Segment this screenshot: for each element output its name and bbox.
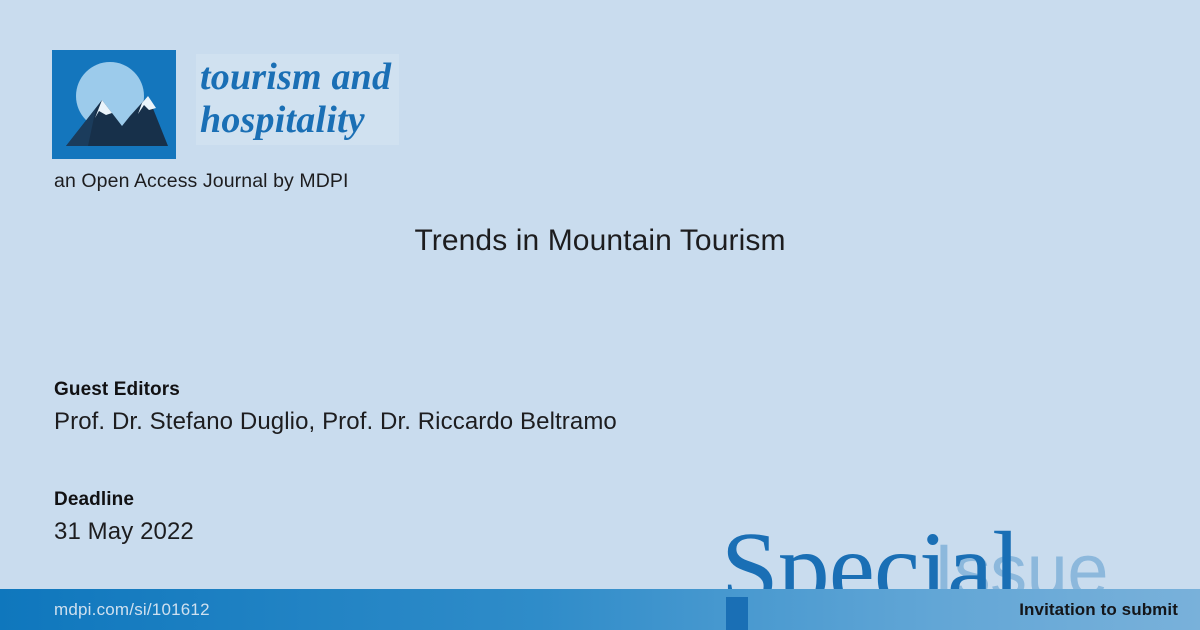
journal-subtitle: an Open Access Journal by MDPI: [54, 170, 349, 193]
masthead: tourism and hospitality: [52, 50, 399, 159]
special-issue-title: Trends in Mountain Tourism: [0, 224, 1200, 258]
footer-cta[interactable]: Invitation to submit: [1019, 600, 1178, 620]
deadline-value: 31 May 2022: [54, 518, 194, 546]
mountain-sun-logo-icon: [52, 50, 176, 159]
footer-bar: mdpi.com/si/101612 Invitation to submit: [0, 589, 1200, 630]
guest-editors-block: Guest Editors Prof. Dr. Stefano Duglio, …: [54, 379, 617, 436]
journal-name: tourism and hospitality: [196, 54, 399, 145]
guest-editors-label: Guest Editors: [54, 379, 617, 401]
deadline-label: Deadline: [54, 489, 194, 511]
special-issue-banner: tourism and hospitality an Open Access J…: [0, 0, 1200, 630]
guest-editors-value: Prof. Dr. Stefano Duglio, Prof. Dr. Ricc…: [54, 408, 617, 436]
footer-url[interactable]: mdpi.com/si/101612: [54, 600, 210, 620]
watermark-descender-overlay: [726, 597, 748, 630]
deadline-block: Deadline 31 May 2022: [54, 489, 194, 546]
